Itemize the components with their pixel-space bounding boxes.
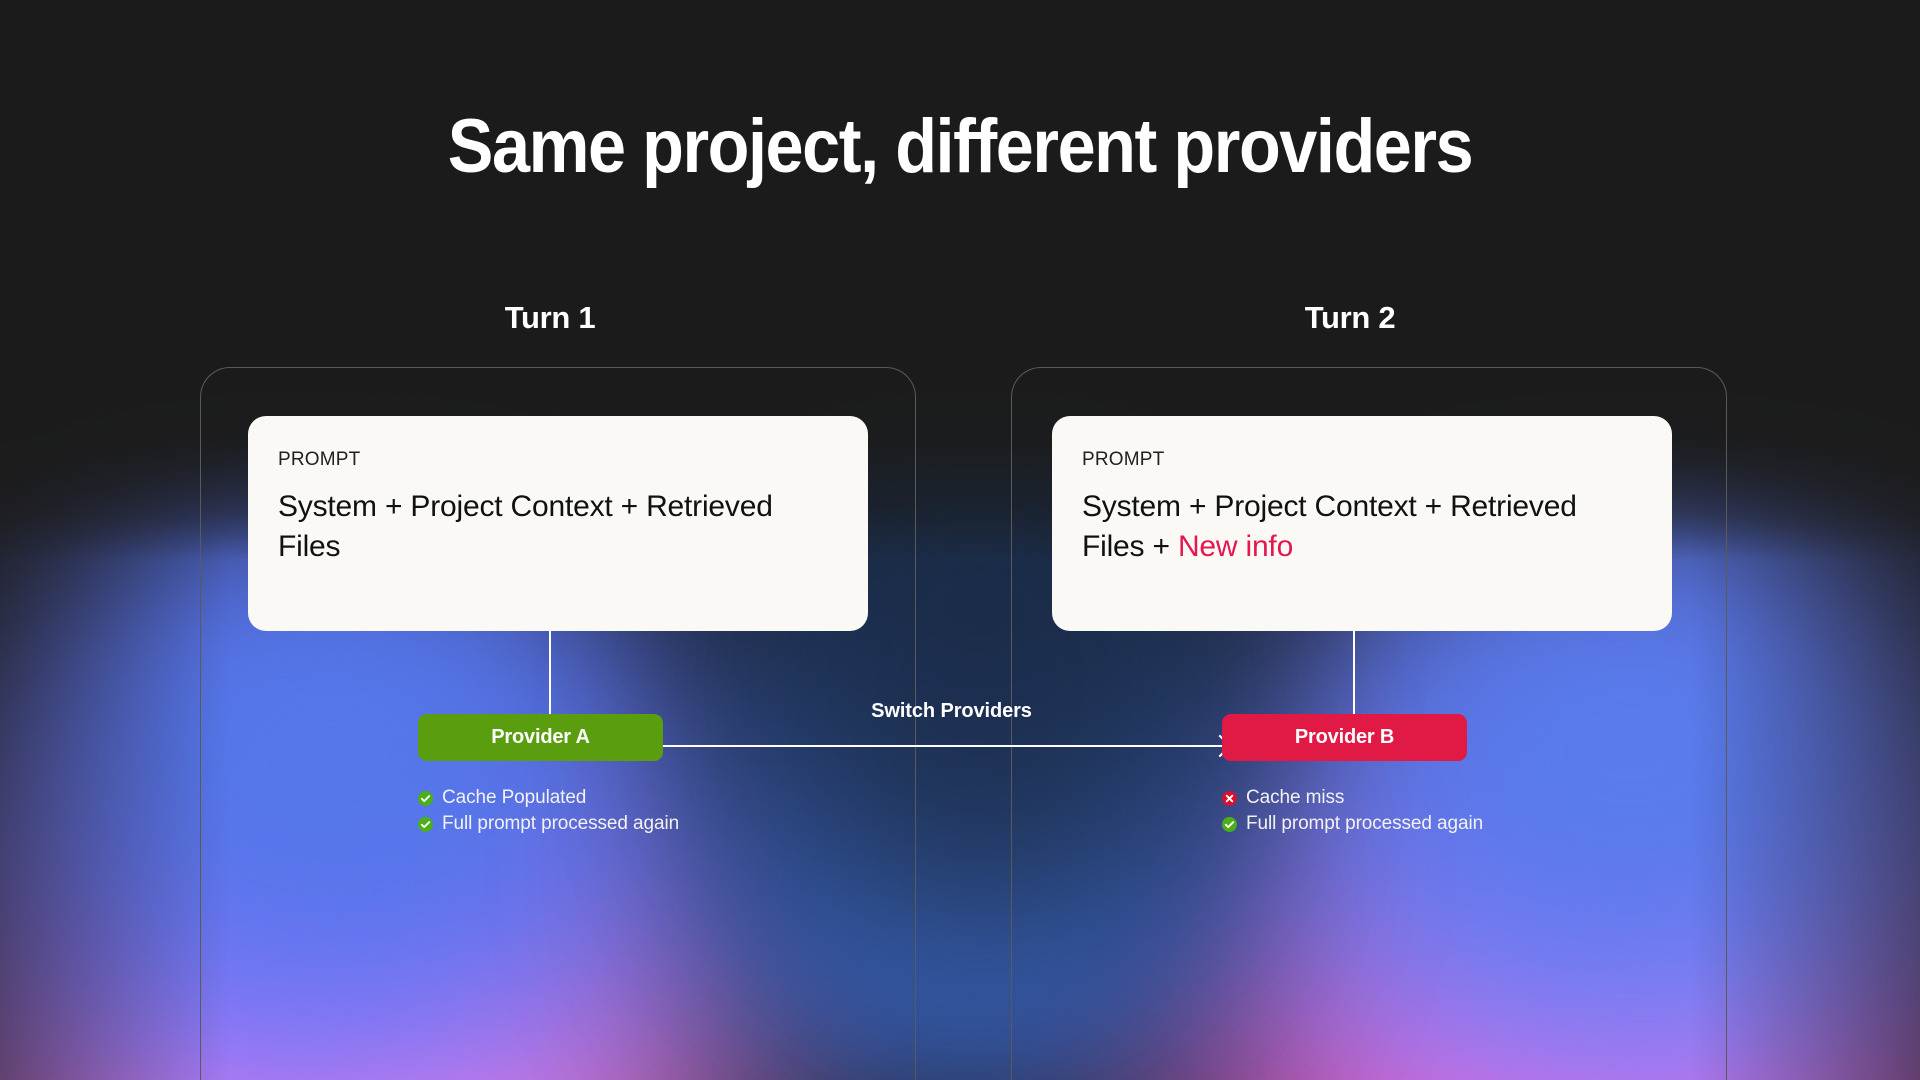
list-item-label: Full prompt processed again [1246, 813, 1483, 835]
turn-1-label: Turn 1 [420, 300, 680, 336]
turn-2-label: Turn 2 [1220, 300, 1480, 336]
provider-a-pill[interactable]: Provider A [418, 714, 663, 761]
prompt-body-text: System + Project Context + Retrieved Fil… [278, 490, 773, 563]
check-circle-icon [418, 817, 433, 832]
prompt-kicker: PROMPT [1082, 449, 1642, 471]
prompt-body-text: System + Project Context + Retrieved Fil… [1082, 490, 1577, 563]
list-item: Full prompt processed again [1222, 811, 1483, 837]
turn-2-status-list: Cache miss Full prompt processed again [1222, 785, 1483, 837]
prompt-card-turn-2: PROMPT System + Project Context + Retrie… [1052, 416, 1672, 631]
arrow-right-icon-switch-providers [663, 736, 1240, 756]
switch-providers-label: Switch Providers [663, 700, 1240, 723]
list-item: Cache miss [1222, 785, 1483, 811]
provider-b-pill[interactable]: Provider B [1222, 714, 1467, 761]
page-title: Same project, different providers [96, 103, 1824, 190]
list-item: Cache Populated [418, 785, 679, 811]
prompt-kicker: PROMPT [278, 449, 838, 471]
prompt-card-turn-1: PROMPT System + Project Context + Retrie… [248, 416, 868, 631]
list-item-label: Cache miss [1246, 787, 1344, 809]
check-circle-icon [1222, 817, 1237, 832]
list-item-label: Cache Populated [442, 787, 586, 809]
turn-1-status-list: Cache Populated Full prompt processed ag… [418, 785, 679, 837]
prompt-body: System + Project Context + Retrieved Fil… [1082, 487, 1642, 567]
list-item: Full prompt processed again [418, 811, 679, 837]
prompt-body: System + Project Context + Retrieved Fil… [278, 487, 838, 567]
check-circle-icon [418, 791, 433, 806]
list-item-label: Full prompt processed again [442, 813, 679, 835]
prompt-highlight: New info [1178, 530, 1293, 563]
x-circle-icon [1222, 791, 1237, 806]
